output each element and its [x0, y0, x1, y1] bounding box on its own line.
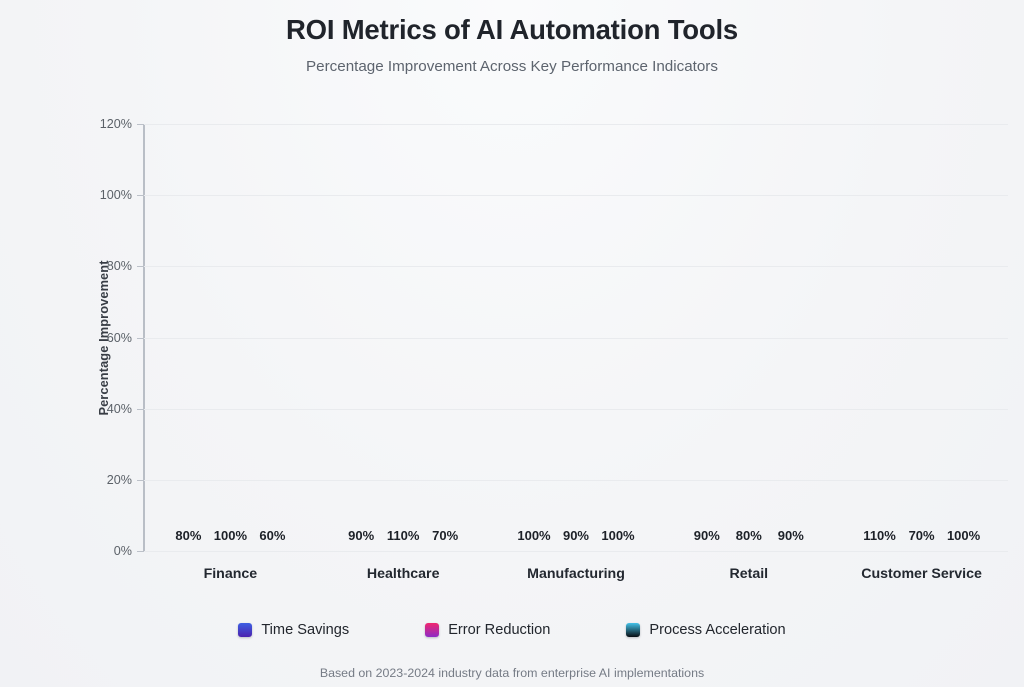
bar-group: 90%110%70% — [317, 124, 490, 551]
bar-group: 80%100%60% — [144, 124, 317, 551]
y-tick-mark — [137, 124, 144, 125]
legend-label: Process Acceleration — [649, 622, 785, 638]
x-axis-category-label: Customer Service — [835, 566, 1008, 582]
y-tick-mark — [137, 409, 144, 410]
bar-group: 90%80%90% — [662, 124, 835, 551]
legend-item[interactable]: Process Acceleration — [626, 622, 785, 638]
x-axis-category-label: Healthcare — [317, 566, 490, 582]
bar-value-label: 100% — [214, 528, 247, 543]
chart-subtitle: Percentage Improvement Across Key Perfor… — [0, 58, 1024, 75]
legend-swatch-icon — [238, 623, 252, 637]
y-tick-label: 60% — [107, 331, 132, 345]
chart-footnote: Based on 2023-2024 industry data from en… — [0, 666, 1024, 680]
y-tick-label: 100% — [100, 188, 132, 202]
y-tick-label: 40% — [107, 402, 132, 416]
chart-legend: Time SavingsError ReductionProcess Accel… — [0, 622, 1024, 638]
y-tick-mark — [137, 480, 144, 481]
bar-value-label: 70% — [432, 528, 458, 543]
bar-value-label: 100% — [947, 528, 980, 543]
y-tick-label: 120% — [100, 117, 132, 131]
legend-label: Error Reduction — [448, 622, 550, 638]
bar-value-label: 110% — [863, 528, 896, 543]
chart-plot-area: Percentage Improvement 0%20%40%60%80%100… — [144, 124, 1008, 551]
bar-value-label: 90% — [694, 528, 720, 543]
bar-value-label: 90% — [778, 528, 804, 543]
x-axis-category-label: Finance — [144, 566, 317, 582]
bar-group: 100%90%100% — [490, 124, 663, 551]
bar-value-label: 90% — [563, 528, 589, 543]
chart-header: ROI Metrics of AI Automation Tools Perce… — [0, 0, 1024, 75]
gridline — [144, 551, 1008, 552]
x-axis-labels: FinanceHealthcareManufacturingRetailCust… — [144, 566, 1008, 582]
y-tick-mark — [137, 338, 144, 339]
y-tick-label: 80% — [107, 259, 132, 273]
legend-swatch-icon — [425, 623, 439, 637]
bar-value-label: 110% — [387, 528, 420, 543]
bar-value-label: 70% — [909, 528, 935, 543]
y-tick-mark — [137, 266, 144, 267]
legend-swatch-icon — [626, 623, 640, 637]
bar-group: 110%70%100% — [835, 124, 1008, 551]
y-tick-mark — [137, 195, 144, 196]
legend-label: Time Savings — [261, 622, 349, 638]
bar-groups: 80%100%60%90%110%70%100%90%100%90%80%90%… — [144, 124, 1008, 551]
bar-value-label: 60% — [259, 528, 285, 543]
bar-value-label: 100% — [517, 528, 550, 543]
y-tick-label: 20% — [107, 473, 132, 487]
bar-value-label: 80% — [175, 528, 201, 543]
bar-value-label: 90% — [348, 528, 374, 543]
bar-value-label: 100% — [601, 528, 634, 543]
legend-item[interactable]: Time Savings — [238, 622, 349, 638]
bar-value-label: 80% — [736, 528, 762, 543]
legend-item[interactable]: Error Reduction — [425, 622, 550, 638]
y-tick-label: 0% — [114, 544, 132, 558]
x-axis-category-label: Retail — [662, 566, 835, 582]
x-axis-category-label: Manufacturing — [490, 566, 663, 582]
y-tick-mark — [137, 551, 144, 552]
page-title: ROI Metrics of AI Automation Tools — [0, 13, 1024, 47]
